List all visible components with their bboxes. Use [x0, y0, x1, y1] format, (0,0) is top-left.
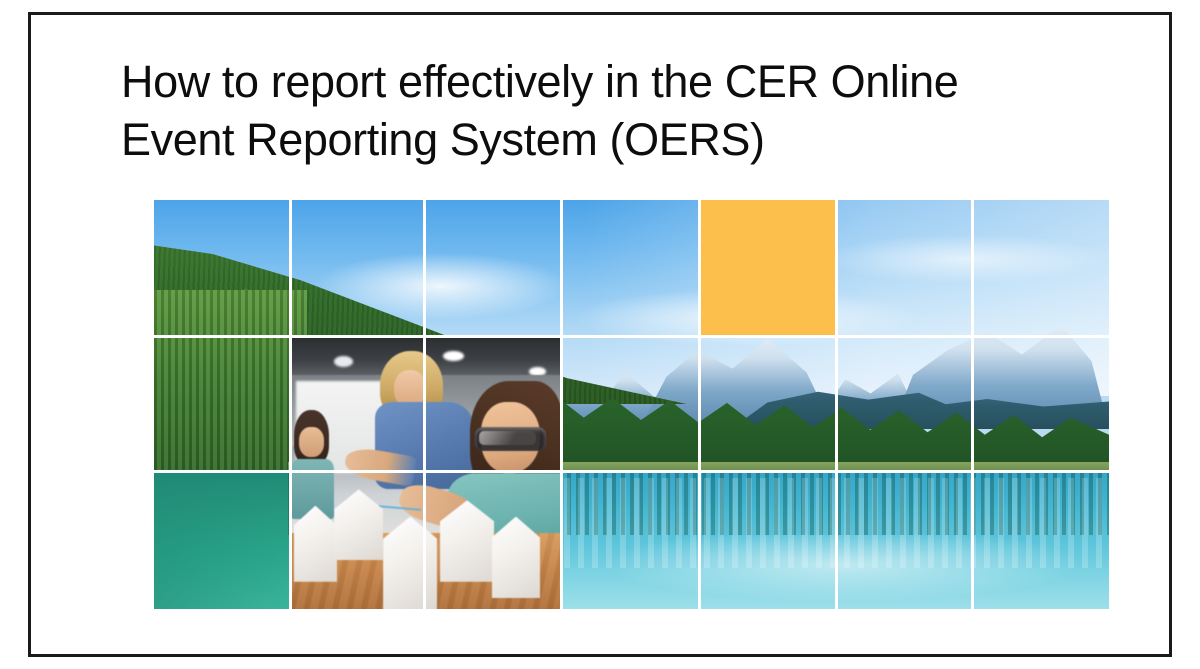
orange-accent-tile: [700, 200, 837, 337]
photo-collage: [154, 200, 1109, 609]
safety-goggles: [475, 427, 545, 451]
stem-classroom-inset-photo: [291, 337, 562, 609]
slide-canvas: How to report effectively in the CER Onl…: [0, 0, 1200, 669]
child-left-face: [299, 427, 323, 457]
page-title: How to report effectively in the CER Onl…: [121, 53, 1071, 168]
slide-border-frame: How to report effectively in the CER Onl…: [28, 12, 1172, 657]
water-sheen: [517, 535, 1109, 609]
